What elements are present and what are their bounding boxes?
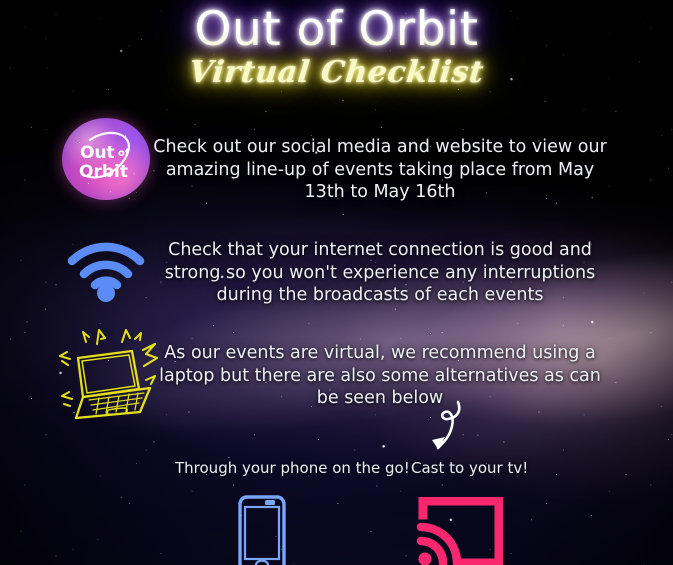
logo-text-orbit: Orbit bbox=[79, 162, 128, 182]
poster-header: Out of Orbit Virtual Checklist bbox=[0, 0, 673, 89]
logo-text-out: Out bbox=[80, 143, 115, 163]
page-title: Out of Orbit bbox=[0, 6, 673, 54]
phone-home-button bbox=[256, 561, 268, 565]
smartphone-icon bbox=[238, 495, 286, 565]
wifi-icon bbox=[62, 230, 150, 302]
logo-artwork: Out of Orbit bbox=[62, 118, 150, 200]
cast-icon bbox=[415, 497, 503, 565]
phone-option-caption: Through your phone on the go! bbox=[175, 459, 410, 477]
logo-text-of: of bbox=[118, 148, 130, 159]
page-subtitle: Virtual Checklist bbox=[0, 56, 673, 89]
poster-canvas: Out of Orbit Virtual Checklist Check out… bbox=[0, 0, 673, 565]
wifi-dot bbox=[97, 284, 115, 302]
out-of-orbit-logo-icon: Out of Orbit bbox=[62, 118, 150, 200]
checklist-item-social-media: Check out our social media and website t… bbox=[152, 136, 608, 204]
checklist-item-internet: Check that your internet connection is g… bbox=[152, 239, 608, 307]
checklist-item-device: As our events are virtual, we recommend … bbox=[152, 342, 608, 410]
alternative-devices-row: Through your phone on the go! Cast to yo… bbox=[0, 455, 673, 565]
cast-dot bbox=[419, 553, 432, 565]
phone-speaker bbox=[265, 500, 275, 505]
curved-down-arrow-icon bbox=[418, 398, 482, 454]
laptop-icon bbox=[56, 326, 168, 424]
tv-option-caption: Cast to your tv! bbox=[411, 459, 528, 477]
